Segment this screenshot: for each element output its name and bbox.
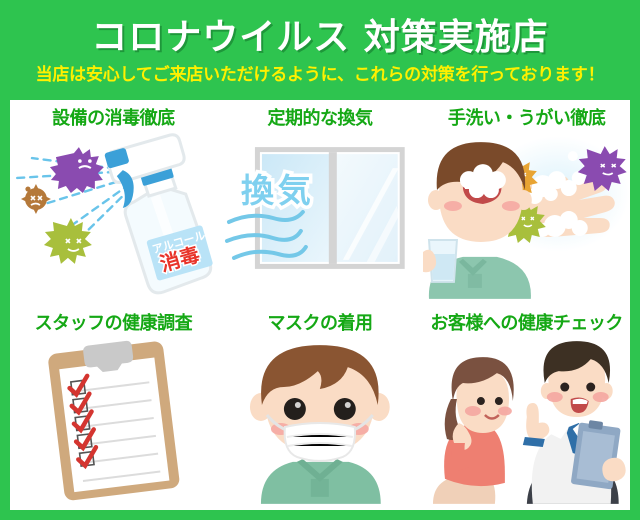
window-icon: 換気 (217, 128, 424, 305)
measure-title-staff-health-check: スタッフの健康調査 (35, 315, 193, 333)
measures-board: 設備の消毒徹底 (10, 100, 630, 510)
face-mask-person-icon (217, 333, 424, 510)
ventilation-overlay-text: 換気 (241, 171, 315, 210)
doctor-figure (523, 341, 626, 504)
page-title: コロナウイルス 対策実施店 (91, 20, 549, 56)
measure-card-staff-health-check: スタッフの健康調査 (10, 305, 217, 510)
measure-title-disinfection: 設備の消毒徹底 (52, 110, 175, 128)
germ-olive (44, 218, 92, 264)
measure-card-disinfection: 設備の消毒徹底 (10, 100, 217, 305)
measure-title-ventilation: 定期的な換気 (268, 110, 373, 128)
measure-card-customer-health-check: お客様への健康チェック (423, 305, 630, 510)
measure-card-handwashing: 手洗い・うがい徹底 (423, 100, 630, 305)
water-glass (423, 240, 457, 282)
measure-card-mask-wearing: マスクの着用 (217, 305, 424, 510)
poster-frame: コロナウイルス 対策実施店 当店は安心してご来店いただけるように、これらの対策を… (0, 0, 640, 520)
measure-card-ventilation: 定期的な換気 (217, 100, 424, 305)
doctor-and-customer-icon (423, 333, 630, 510)
measures-row-top: 設備の消毒徹底 (10, 100, 630, 305)
customer-figure (433, 357, 514, 504)
germ-purple (50, 147, 104, 193)
page-subtitle: 当店は安心してご来店いただけるように、これらの対策を行っております！ (36, 67, 605, 84)
measure-title-handwashing: 手洗い・うがい徹底 (448, 110, 606, 128)
germ-brown (21, 184, 51, 214)
gargling-person (423, 142, 532, 299)
handwashing-gargling-icon (423, 128, 630, 305)
spray-bottle-icon: アルコール 消毒 (10, 128, 217, 305)
measures-row-bottom: スタッフの健康調査 (10, 305, 630, 510)
doctor-clipboard (571, 420, 626, 489)
measure-title-mask-wearing: マスクの着用 (268, 315, 373, 333)
measure-title-customer-health-check: お客様への健康チェック (430, 315, 623, 333)
poster-header: コロナウイルス 対策実施店 当店は安心してご来店いただけるように、これらの対策を… (10, 0, 630, 100)
clipboard-checklist-icon (10, 333, 217, 510)
